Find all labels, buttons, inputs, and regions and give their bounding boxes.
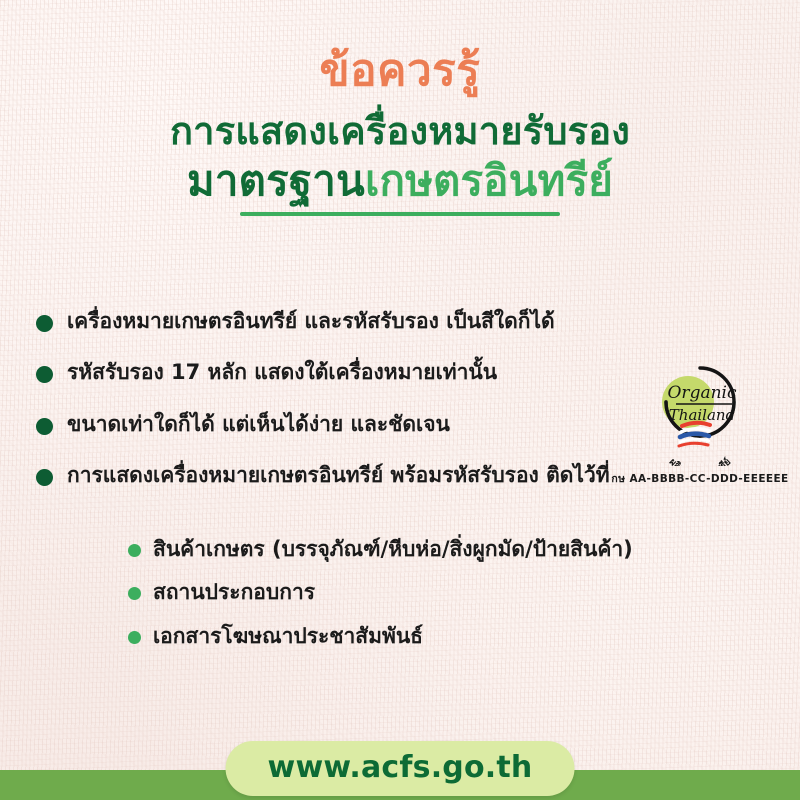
bullet-list: เครื่องหมายเกษตรอินทรีย์ และรหัสรับรอง เ… bbox=[36, 308, 656, 513]
bullet-dot-icon bbox=[36, 469, 53, 486]
sub-bullet-text: สถานประกอบการ bbox=[153, 579, 315, 606]
infographic-content: ข้อควรรู้ การแสดงเครื่องหมายรับรอง มาตรฐ… bbox=[0, 0, 800, 800]
sub-bullet-dot-icon bbox=[128, 544, 141, 557]
website-url-pill[interactable]: www.acfs.go.th bbox=[226, 741, 575, 796]
page-title-line1: การแสดงเครื่องหมายรับรอง bbox=[0, 109, 800, 154]
bullet-text: เครื่องหมายเกษตรอินทรีย์ และรหัสรับรอง เ… bbox=[67, 308, 555, 335]
bullet-text: รหัสรับรอง 17 หลัก แสดงใต้เครื่องหมายเท่… bbox=[67, 359, 497, 386]
sub-bullet-dot-icon bbox=[128, 631, 141, 644]
list-item: รหัสรับรอง 17 หลัก แสดงใต้เครื่องหมายเท่… bbox=[36, 359, 656, 386]
page-title-line2: มาตรฐานเกษตรอินทรีย์ bbox=[0, 156, 800, 206]
page-title-line2-accent: เกษตรอินทรีย์ bbox=[365, 156, 613, 205]
list-item: ขนาดเท่าใดก็ได้ แต่เห็นได้ง่าย และชัดเจน bbox=[36, 411, 656, 438]
organic-thailand-seal-icon: Organic Thailand ผลิตภัณฑ์อินทรีย์ bbox=[640, 362, 760, 466]
sub-bullet-text: สินค้าเกษตร (บรรจุภัณฑ์/หีบห่อ/สิ่งผูกมั… bbox=[153, 536, 633, 563]
organic-thailand-logo-block: Organic Thailand ผลิตภัณฑ์อินทรีย์ กษ AA… bbox=[604, 362, 796, 487]
bullet-dot-icon bbox=[36, 366, 53, 383]
sub-list-item: สินค้าเกษตร (บรรจุภัณฑ์/หีบห่อ/สิ่งผูกมั… bbox=[128, 536, 768, 563]
bullet-dot-icon bbox=[36, 418, 53, 435]
svg-text:ผลิตภัณฑ์อินทรีย์: ผลิตภัณฑ์อินทรีย์ bbox=[667, 456, 733, 466]
bullet-text: การแสดงเครื่องหมายเกษตรอินทรีย์ พร้อมรหั… bbox=[67, 462, 610, 489]
list-item: การแสดงเครื่องหมายเกษตรอินทรีย์ พร้อมรหั… bbox=[36, 462, 656, 489]
bullet-text: ขนาดเท่าใดก็ได้ แต่เห็นได้ง่าย และชัดเจน bbox=[67, 411, 450, 438]
heading-block: ข้อควรรู้ การแสดงเครื่องหมายรับรอง มาตรฐ… bbox=[0, 46, 800, 216]
bullet-dot-icon bbox=[36, 315, 53, 332]
svg-text:Organic: Organic bbox=[668, 383, 737, 403]
list-item: เครื่องหมายเกษตรอินทรีย์ และรหัสรับรอง เ… bbox=[36, 308, 656, 335]
certification-code-text: กษ AA-BBBB-CC-DDD-EEEEEE bbox=[604, 470, 796, 487]
sub-bullet-text: เอกสารโฆษณาประชาสัมพันธ์ bbox=[153, 623, 423, 650]
sub-bullet-list: สินค้าเกษตร (บรรจุภัณฑ์/หีบห่อ/สิ่งผูกมั… bbox=[128, 536, 768, 666]
website-url-text: www.acfs.go.th bbox=[268, 750, 533, 785]
page-kicker-title: ข้อควรรู้ bbox=[0, 46, 800, 95]
page-title-line2-prefix: มาตรฐาน bbox=[187, 156, 365, 205]
title-underline-rule bbox=[240, 212, 560, 216]
sub-list-item: สถานประกอบการ bbox=[128, 579, 768, 606]
sub-bullet-dot-icon bbox=[128, 587, 141, 600]
sub-list-item: เอกสารโฆษณาประชาสัมพันธ์ bbox=[128, 623, 768, 650]
